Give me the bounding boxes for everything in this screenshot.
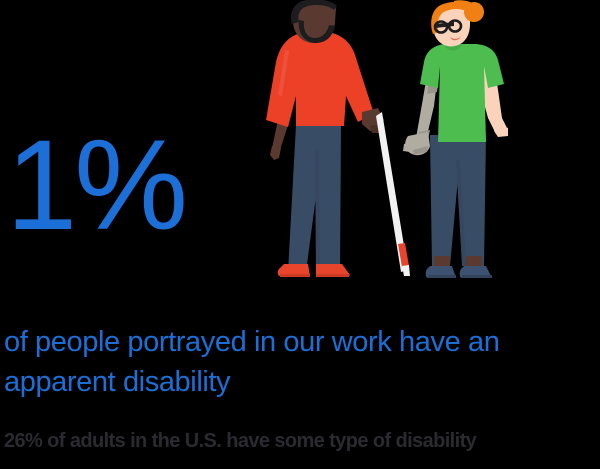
figure-man-with-white-cane — [266, 0, 410, 277]
disability-stat-card: 1% of people portrayed in our work have … — [0, 0, 600, 469]
two-people-with-disabilities-illustration — [258, 0, 510, 300]
headline-text: of people portrayed in our work have an … — [4, 322, 598, 402]
figure-woman-with-prosthetic-arm — [403, 0, 508, 278]
big-stat-percentage: 1% — [6, 122, 185, 250]
caption-text: 26% of adults in the U.S. have some type… — [4, 428, 600, 454]
